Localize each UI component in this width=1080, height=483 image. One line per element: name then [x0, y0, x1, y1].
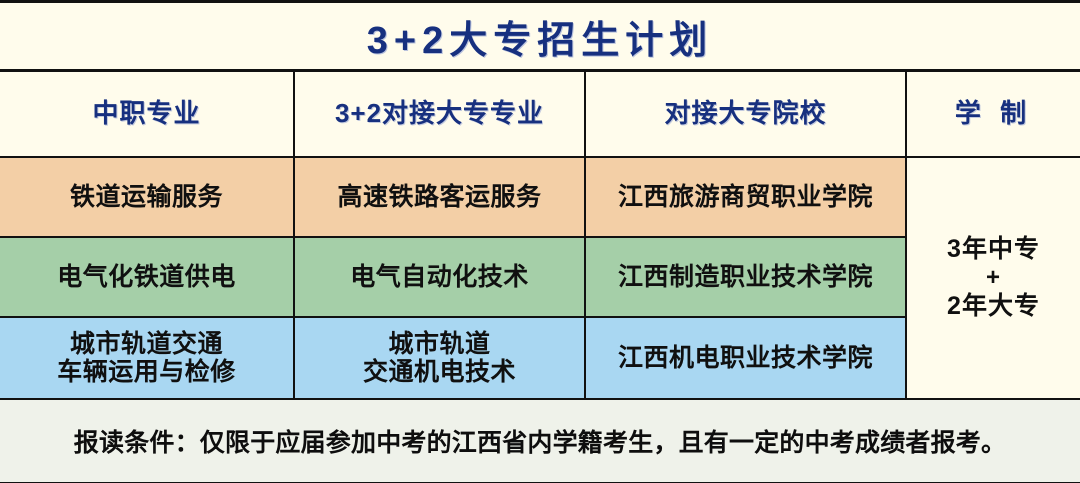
cell-text-line-1: 城市轨道 [363, 330, 516, 358]
table-header-row: 中职专业 3+2对接大专专业 对接大专院校 [0, 72, 905, 158]
cell-college-major: 电气自动化技术 [295, 238, 586, 316]
admission-plan-poster: 3+2大专招生计划 中职专业 3+2对接大专专业 对接大专院校 铁道运输服务 高… [0, 0, 1080, 483]
cell-vocational-major: 铁道运输服务 [0, 158, 295, 236]
duration-line-1: 3年中专 [947, 233, 1040, 267]
cell-duration: 3年中专 + 2年大专 [907, 158, 1080, 400]
cell-text-line-2: 交通机电技术 [363, 358, 516, 386]
column-header-duration: 学 制 [907, 72, 1080, 156]
table-row: 城市轨道交通 车辆运用与检修 城市轨道 交通机电技术 江西机电职业技术学院 [0, 318, 905, 400]
column-header-partner-college: 对接大专院校 [586, 72, 905, 156]
duration-header-row: 学 制 [907, 72, 1080, 158]
table-left-columns: 中职专业 3+2对接大专专业 对接大专院校 铁道运输服务 高速铁路客运服务 江西… [0, 72, 907, 400]
cell-college-major: 城市轨道 交通机电技术 [295, 318, 586, 398]
eligibility-note-row: 报读条件：仅限于应届参加中考的江西省内学籍考生，且有一定的中考成绩者报考。 [0, 400, 1080, 482]
cell-partner-college: 江西制造职业技术学院 [586, 238, 905, 316]
duration-plus-sign: + [986, 266, 1001, 290]
cell-partner-college: 江西旅游商贸职业学院 [586, 158, 905, 236]
cell-text-line-1: 城市轨道交通 [57, 330, 236, 358]
page-title: 3+2大专招生计划 [367, 9, 713, 64]
duration-line-3: 2年大专 [947, 290, 1040, 324]
column-header-college-major: 3+2对接大专专业 [295, 72, 586, 156]
cell-college-major: 高速铁路客运服务 [295, 158, 586, 236]
cell-vocational-major: 电气化铁道供电 [0, 238, 295, 316]
poster-title-band: 3+2大专招生计划 [0, 3, 1080, 72]
cell-partner-college: 江西机电职业技术学院 [586, 318, 905, 398]
cell-text-line-2: 车辆运用与检修 [57, 358, 236, 386]
table-row: 铁道运输服务 高速铁路客运服务 江西旅游商贸职业学院 [0, 158, 905, 238]
column-header-vocational-major: 中职专业 [0, 72, 295, 156]
table-row: 电气化铁道供电 电气自动化技术 江西制造职业技术学院 [0, 238, 905, 318]
cell-vocational-major: 城市轨道交通 车辆运用与检修 [0, 318, 295, 398]
eligibility-note-text: 报读条件：仅限于应届参加中考的江西省内学籍考生，且有一定的中考成绩者报考。 [74, 423, 1006, 459]
duration-column: 学 制 3年中专 + 2年大专 [907, 72, 1080, 400]
plan-table: 中职专业 3+2对接大专专业 对接大专院校 铁道运输服务 高速铁路客运服务 江西… [0, 72, 1080, 400]
